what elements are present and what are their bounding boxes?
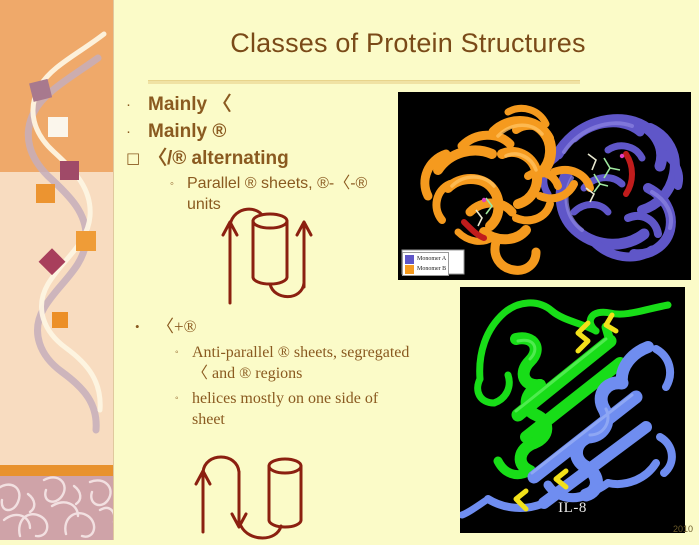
topology-diagram-parallel [208,203,330,311]
bullet-marker-circle: ◦ [170,173,187,195]
bullet-marker-circle: ◦ [175,388,192,409]
legend-row-monomer-b: Monomer B [405,264,446,274]
bullet-marker-square: □ [126,146,148,171]
legend-swatch-monomer-a [405,255,414,264]
sidebar-divider-bar [0,465,114,476]
sidebar-ribbon-graphic [0,0,114,540]
slide-year-stamp: 2010 [673,524,693,534]
bullet-marker-circle: ◦ [175,342,192,363]
slide-canvas: Classes of Protein Structures · Mainly 〈… [0,0,699,540]
sub-bullet-text: helices mostly on one side of sheet [192,388,415,430]
il8-caption: IL-8 [460,500,685,517]
figure-il8-structure: IL-8 [460,287,685,533]
figure-protein-dimer: Monomer A Monomer B [398,92,691,280]
slide-title: Classes of Protein Structures [125,28,691,59]
bullet-block-primary: · Mainly 〈 · Mainly ® □ 〈/® alternating … [126,92,401,215]
sidebar-floral-pattern [0,476,114,540]
sub-bullet-text: Anti-parallel ® sheets, segregated 〈 and… [192,342,415,384]
bullet-text: 〈/® alternating [148,146,289,171]
legend-row-monomer-a: Monomer A [405,254,446,264]
bullet-item: • 〈+® [135,316,415,338]
dimer-legend: Monomer A Monomer B [402,252,449,276]
bullet-text: 〈+® [157,316,197,338]
topology-diagram-antiparallel [193,448,329,540]
legend-label-monomer-b: Monomer B [417,265,446,274]
legend-swatch-monomer-b [405,265,414,274]
title-underline-rule [148,80,580,84]
bullet-item: · Mainly 〈 [126,92,401,117]
bullet-text: Mainly ® [148,119,226,144]
bullet-item: · Mainly ® [126,119,401,144]
sub-bullet-item: ◦ Anti-parallel ® sheets, segregated 〈 a… [135,342,415,384]
sub-bullet-item: ◦ helices mostly on one side of sheet [135,388,415,430]
bullet-text: Mainly 〈 [148,92,231,117]
decorative-sidebar [0,0,114,540]
legend-label-monomer-a: Monomer A [417,255,446,264]
bullet-block-secondary: • 〈+® ◦ Anti-parallel ® sheets, segregat… [135,316,415,430]
bullet-marker-dot: • [135,316,157,338]
bullet-marker-dot: · [126,119,148,144]
bullet-marker-dot: · [126,92,148,117]
sidebar-edge-line [113,0,114,540]
bullet-item: □ 〈/® alternating [126,146,401,171]
